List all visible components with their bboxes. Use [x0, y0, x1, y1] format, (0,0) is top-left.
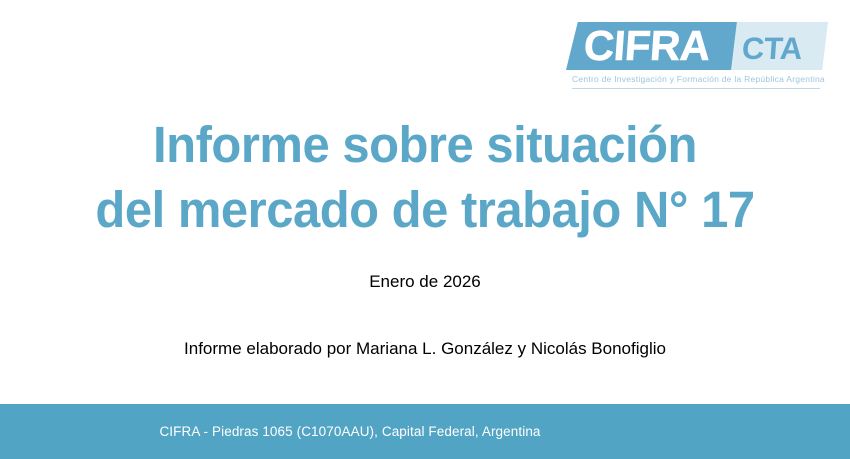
- logo-divider: [572, 88, 820, 89]
- authors-line: Informe elaborado por Mariana L. Gonzále…: [0, 338, 850, 360]
- publication-date: Enero de 2026: [0, 271, 850, 293]
- page-title-line-1: Informe sobre situación: [17, 112, 833, 177]
- page-title-line-2: del mercado de trabajo N° 17: [17, 177, 833, 242]
- footer-bar: CIFRA - Piedras 1065 (C1070AAU), Capital…: [0, 404, 850, 459]
- logo-secondary-text: CTA: [741, 33, 803, 65]
- logo-primary-text: CIFRA: [582, 24, 711, 68]
- logo-banner: CIFRA CTA: [566, 22, 828, 70]
- title-slide: CIFRA CTA Centro de Investigación y Form…: [0, 0, 850, 459]
- page-title: Informe sobre situación del mercado de t…: [17, 112, 833, 242]
- footer-address: CIFRA - Piedras 1065 (C1070AAU), Capital…: [0, 404, 700, 459]
- cifra-logo: CIFRA CTA Centro de Investigación y Form…: [566, 22, 828, 94]
- logo-tagline: Centro de Investigación y Formación de l…: [572, 74, 822, 84]
